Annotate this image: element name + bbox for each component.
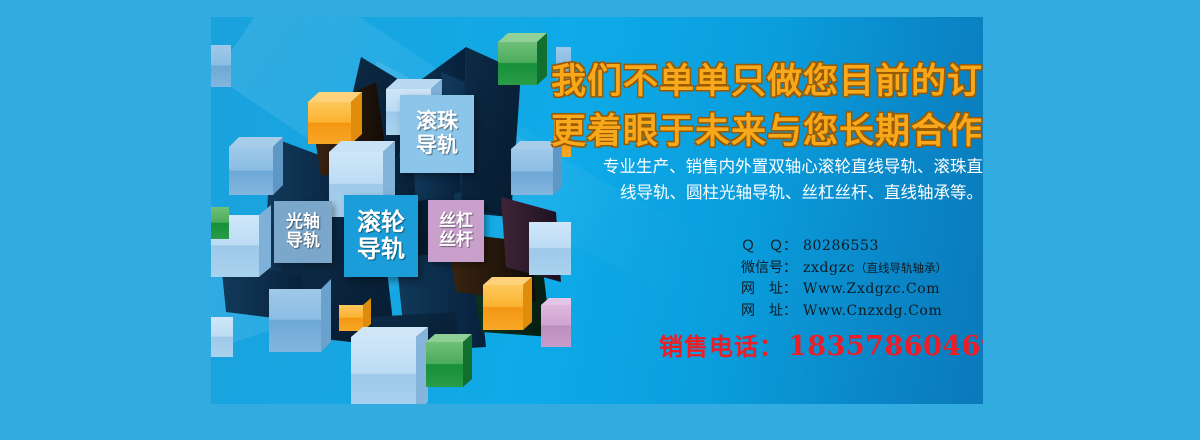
cube-midblue-2 xyxy=(269,279,331,352)
cube-label-line2: 导轨 xyxy=(357,236,405,263)
cube-label-gunzhu-daogui: 滚珠 导轨 xyxy=(400,95,474,173)
contact-label: 网 址： xyxy=(741,279,803,301)
cube-lightblue-2 xyxy=(229,137,283,195)
contact-value[interactable]: Www.Cnzxdg.Com xyxy=(803,303,942,319)
cube-green-2 xyxy=(426,334,472,387)
contact-row-website-2[interactable]: 网 址：Www.Cnzxdg.Com xyxy=(741,301,947,323)
contact-row-wechat: 微信号：zxdgzc（直线导轨轴承） xyxy=(741,258,947,280)
contact-row-website-1[interactable]: 网 址：Www.Zxdgzc.Com xyxy=(741,279,947,301)
sales-phone-label: 销售电话： xyxy=(659,332,784,361)
headline-line-2: 更着眼于未来与您长期合作 xyxy=(551,103,983,154)
sales-phone-number: 18357860469 xyxy=(788,331,983,362)
contact-value[interactable]: Www.Zxdgzc.Com xyxy=(803,281,940,297)
contact-label: 微信号： xyxy=(741,258,803,280)
banner-copy: 我们不单单只做您目前的订单 更着眼于未来与您长期合作 专业生产、销售内外置双轴心… xyxy=(551,17,983,404)
cube-orange-1 xyxy=(308,92,362,144)
cube-green-3 xyxy=(211,207,229,239)
contact-value: zxdgzc xyxy=(803,260,855,276)
cube-green-1 xyxy=(498,33,547,85)
cube-lightblue-5 xyxy=(351,327,428,404)
contact-value: 80286553 xyxy=(803,238,879,254)
cube-midblue-1 xyxy=(211,45,231,87)
contact-note: （直线导轨轴承） xyxy=(855,261,947,275)
cube-label-line2: 导轨 xyxy=(416,134,458,158)
cube-label-line1: 丝杠 xyxy=(439,212,473,231)
cube-label-line2: 丝杆 xyxy=(439,231,473,250)
cube-label-gunlun-daogui: 滚轮 导轨 xyxy=(344,195,418,277)
cube-lightblue-8 xyxy=(211,317,233,357)
cube-label-line1: 滚珠 xyxy=(416,110,458,134)
promo-banner: 滚珠 导轨 光轴 导轨 滚轮 导轨 丝杠 丝杆 我们不单单只做您目前的订单 更着… xyxy=(211,17,983,404)
contact-row-qq: Ｑ Ｑ：80286553 xyxy=(741,236,947,258)
contact-label: Ｑ Ｑ： xyxy=(741,236,803,258)
description-text: 专业生产、销售内外置双轴心滚轮直线导轨、滚珠直线导轨、圆柱光轴导轨、丝杠丝杆、直… xyxy=(603,154,983,206)
cube-label-line2: 导轨 xyxy=(286,232,320,251)
cube-label-guangzhou-daogui: 光轴 导轨 xyxy=(274,201,332,263)
cube-orange-4 xyxy=(483,277,532,330)
cube-label-sigang-sigan: 丝杠 丝杆 xyxy=(428,200,484,262)
sales-phone: 销售电话：18357860469 xyxy=(659,327,983,362)
contact-label: 网 址： xyxy=(741,301,803,323)
cube-label-line1: 滚轮 xyxy=(357,209,405,236)
cube-label-line1: 光轴 xyxy=(286,213,320,232)
banner-page: 滚珠 导轨 光轴 导轨 滚轮 导轨 丝杠 丝杆 我们不单单只做您目前的订单 更着… xyxy=(0,0,1200,440)
headline-line-1: 我们不单单只做您目前的订单 xyxy=(551,53,983,104)
contact-block: Ｑ Ｑ：80286553 微信号：zxdgzc（直线导轨轴承） 网 址：Www.… xyxy=(741,236,947,322)
cube-cluster-artwork: 滚珠 导轨 光轴 导轨 滚轮 导轨 丝杠 丝杆 xyxy=(211,17,571,404)
